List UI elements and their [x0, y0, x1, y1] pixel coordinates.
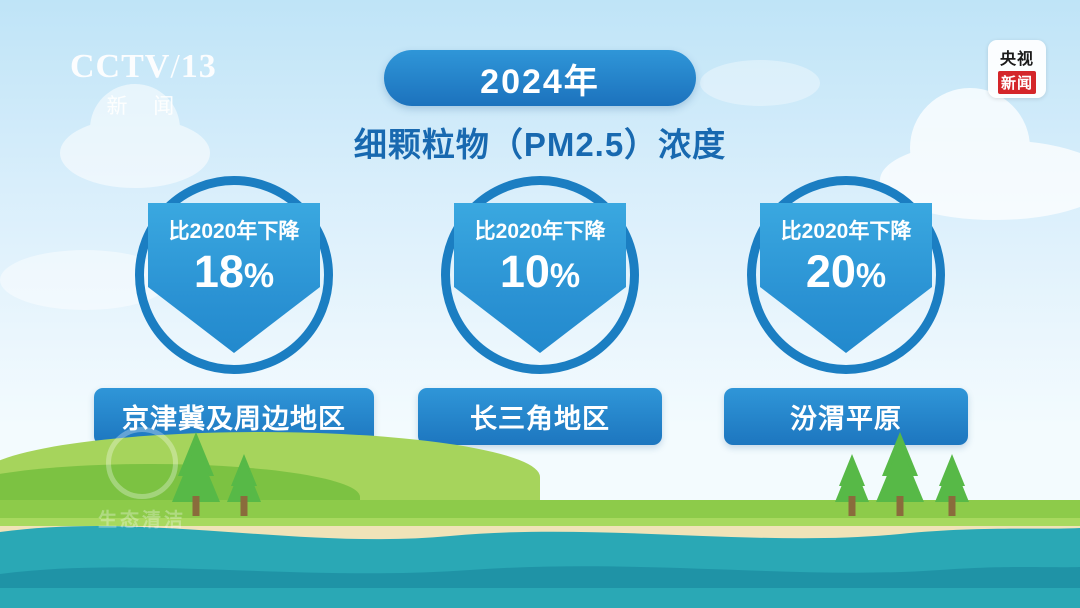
stat-value: 20%: [806, 249, 886, 294]
stat-value: 18%: [194, 249, 274, 294]
ring-decoration: 比2020年下降 20%: [747, 176, 945, 374]
percent-symbol: %: [550, 257, 580, 295]
watermark-ring-icon: [106, 427, 178, 499]
down-arrow-icon: 比2020年下降 18%: [148, 203, 320, 353]
badge-line1: 央视: [1000, 45, 1034, 69]
percent-symbol: %: [856, 257, 886, 295]
stat-compare-label: 比2020年下降: [169, 215, 300, 245]
stat-value: 10%: [500, 249, 580, 294]
down-arrow-icon: 比2020年下降 10%: [454, 203, 626, 353]
channel-logo-main: CCTV/13: [70, 48, 217, 86]
cctv-news-badge: 央视 新闻: [988, 40, 1046, 98]
channel-slash: /: [170, 48, 180, 85]
down-arrow-icon: 比2020年下降 20%: [760, 203, 932, 353]
channel-subname: 新 闻: [74, 90, 217, 120]
water-wave: [0, 548, 1080, 588]
ring-decoration: 比2020年下降 10%: [441, 176, 639, 374]
badge-line2: 新闻: [998, 71, 1036, 94]
stat-number: 20: [806, 246, 856, 297]
stat-compare-label: 比2020年下降: [781, 215, 912, 245]
infographic-stage: CCTV/13 新 闻 央视 新闻 2024年 细颗粒物（PM2.5）浓度 比2…: [0, 0, 1080, 608]
channel-logo: CCTV/13 新 闻: [70, 48, 217, 120]
ring-decoration: 比2020年下降 18%: [135, 176, 333, 374]
year-title: 2024年: [480, 54, 600, 103]
stat-compare-label: 比2020年下降: [475, 215, 606, 245]
stat-number: 10: [500, 246, 550, 297]
stat-number: 18: [194, 246, 244, 297]
page-subtitle: 细颗粒物（PM2.5）浓度: [354, 118, 726, 166]
channel-number: 13: [181, 48, 217, 85]
cloud-icon: [700, 60, 820, 106]
landscape-illustration: 生态清洁: [0, 403, 1080, 608]
channel-name: CCTV: [70, 48, 170, 85]
watermark: 生态清洁: [98, 427, 186, 532]
percent-symbol: %: [244, 257, 274, 295]
year-title-pill: 2024年: [384, 50, 696, 106]
watermark-text: 生态清洁: [98, 505, 186, 532]
